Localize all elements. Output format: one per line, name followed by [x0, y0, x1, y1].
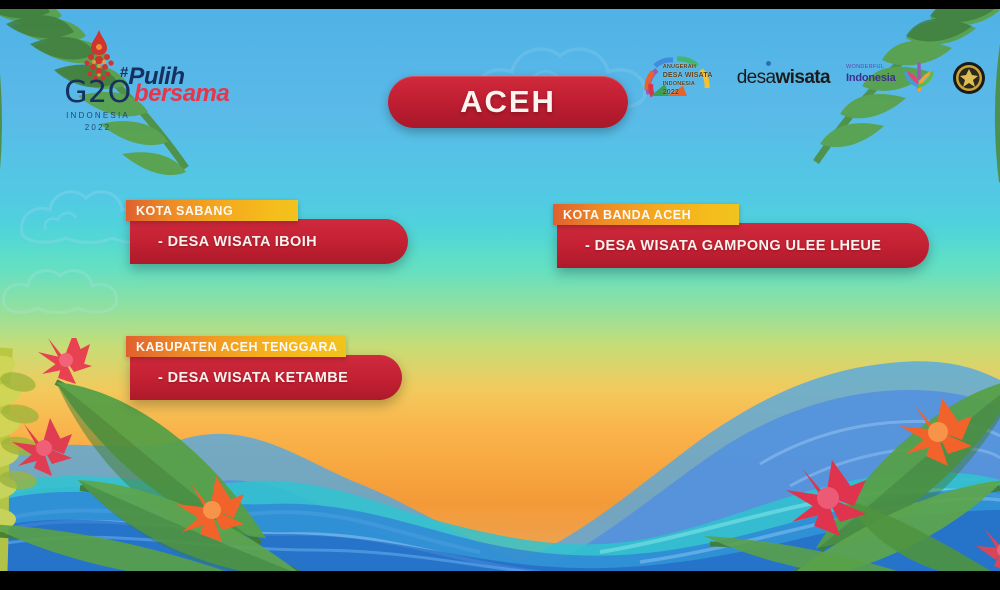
wave-layer-front	[0, 486, 1000, 571]
letterbox-bar-bottom	[0, 571, 1000, 590]
adwi-logo-text: ANUGERAH DESA WISATA INDONESIA 2022	[663, 64, 721, 98]
wi-text-large: Indonesia	[846, 72, 896, 84]
village-name: - DESA WISATA IBOIH	[158, 234, 317, 250]
desa-wisata-text-bold: wisata	[776, 67, 831, 88]
wi-text-small: WONDERFUL	[846, 64, 884, 70]
wonderful-indonesia-logo: WONDERFUL Indonesia	[846, 60, 936, 96]
region-header: KABUPATEN ACEH TENGGARA	[126, 336, 346, 357]
province-title-banner: ACEH	[388, 76, 628, 128]
desa-wisata-text-light: desa	[737, 67, 776, 88]
cloud-motif-icon	[0, 256, 120, 316]
wonderful-indonesia-mark-icon	[902, 60, 936, 94]
entry-card-kabupaten-aceh-tenggara[interactable]: KABUPATEN ACEH TENGGARA - DESA WISATA KE…	[126, 336, 402, 400]
partner-logo-strip: ANUGERAH DESA WISATA INDONESIA 2022 desa…	[643, 56, 986, 100]
entry-card-kota-sabang[interactable]: KOTA SABANG - DESA WISATA IBOIH	[126, 200, 408, 264]
video-frame: G2O INDONESIA 2022 #Pulih bersama	[0, 8, 1000, 571]
g20-subline: INDONESIA 2022	[48, 110, 148, 134]
village-name: - DESA WISATA KETAMBE	[158, 370, 348, 386]
village-card: - DESA WISATA IBOIH	[130, 219, 408, 264]
desa-wisata-logo: desawisata	[737, 67, 830, 89]
village-name: - DESA WISATA GAMPONG ULEE LHEUE	[585, 238, 881, 254]
anugerah-desa-wisata-logo: ANUGERAH DESA WISATA INDONESIA 2022	[643, 56, 721, 100]
letterbox-bar-top	[0, 0, 1000, 9]
pulih-bersama-tagline: #Pulih bersama	[120, 66, 229, 106]
kemenparekraf-emblem-icon	[952, 61, 986, 95]
page-title: ACEH	[460, 84, 556, 120]
region-header: KOTA BANDA ACEH	[553, 204, 739, 225]
desa-wisata-dot-icon	[766, 61, 771, 66]
presentation-slide: G2O INDONESIA 2022 #Pulih bersama	[0, 0, 1000, 590]
tagline-word-bersama: bersama	[134, 83, 229, 106]
entry-card-kota-banda-aceh[interactable]: KOTA BANDA ACEH - DESA WISATA GAMPONG UL…	[553, 204, 929, 268]
region-header: KOTA SABANG	[126, 200, 298, 221]
village-card: - DESA WISATA KETAMBE	[130, 355, 402, 400]
village-card: - DESA WISATA GAMPONG ULEE LHEUE	[557, 223, 929, 268]
